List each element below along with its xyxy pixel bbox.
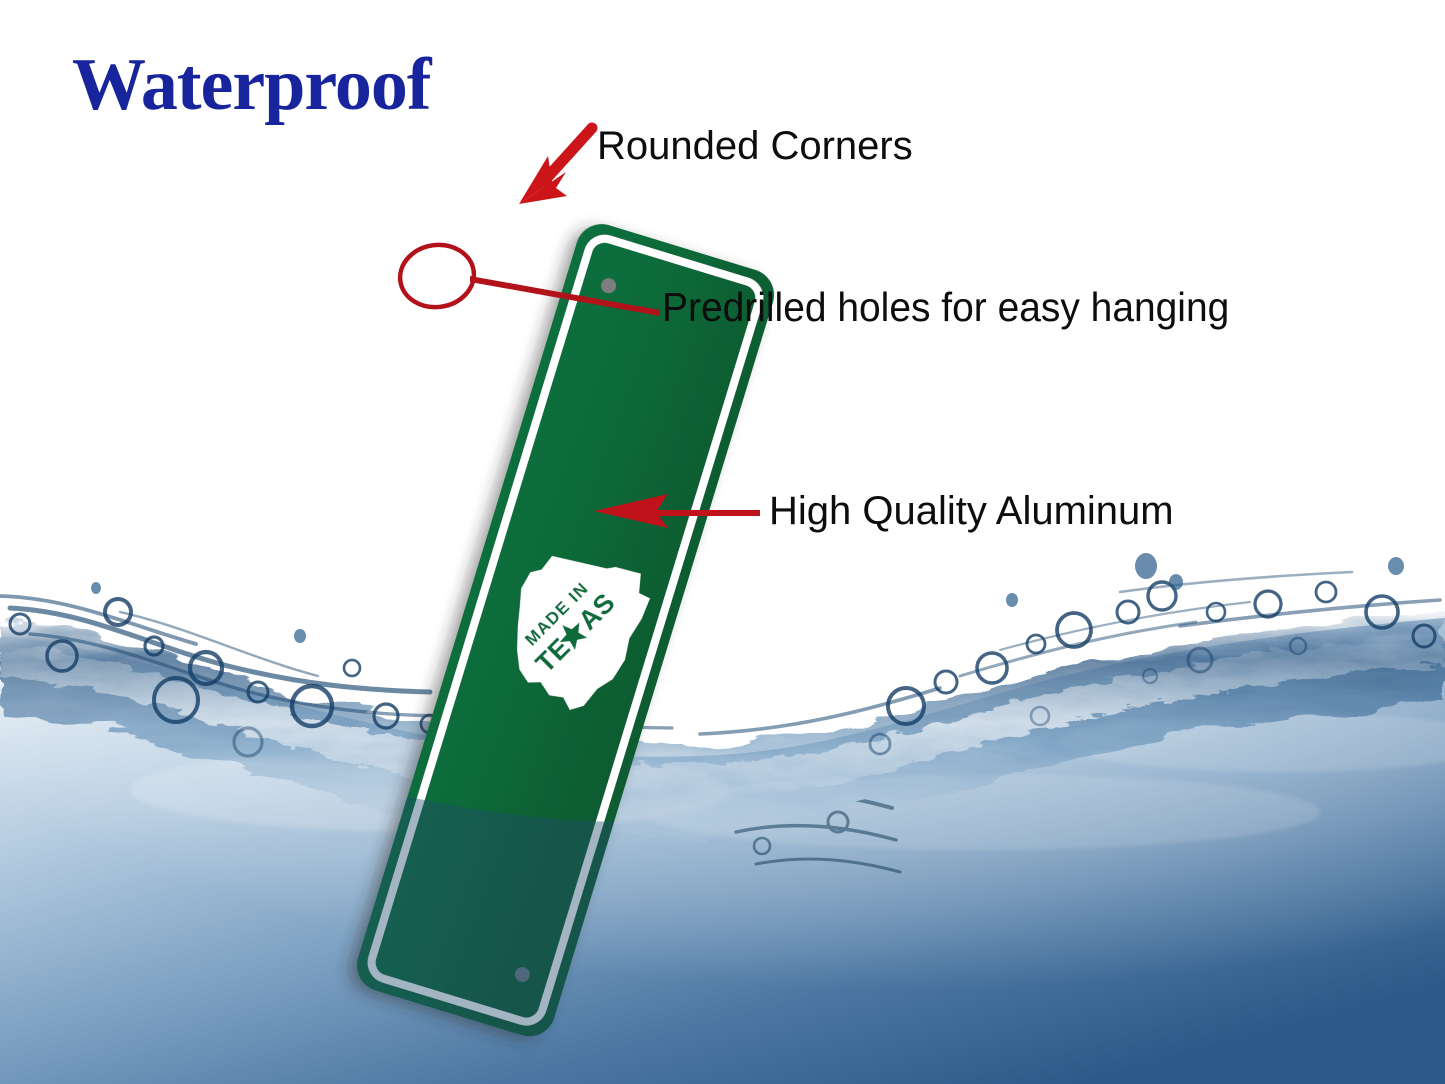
high-quality-aluminum-arrow-icon bbox=[594, 494, 760, 528]
infographic-canvas: MADE IN TE AS bbox=[0, 0, 1445, 1084]
predrilled-holes-marker-icon bbox=[396, 240, 660, 316]
rounded-corners-arrow-icon bbox=[519, 128, 592, 204]
callout-label-rounded-corners: Rounded Corners bbox=[597, 126, 913, 166]
callout-label-high-quality-aluminum: High Quality Aluminum bbox=[769, 491, 1174, 531]
callout-label-predrilled-holes: Predrilled holes for easy hanging bbox=[662, 287, 1229, 328]
page-title: Waterproof bbox=[72, 48, 431, 122]
